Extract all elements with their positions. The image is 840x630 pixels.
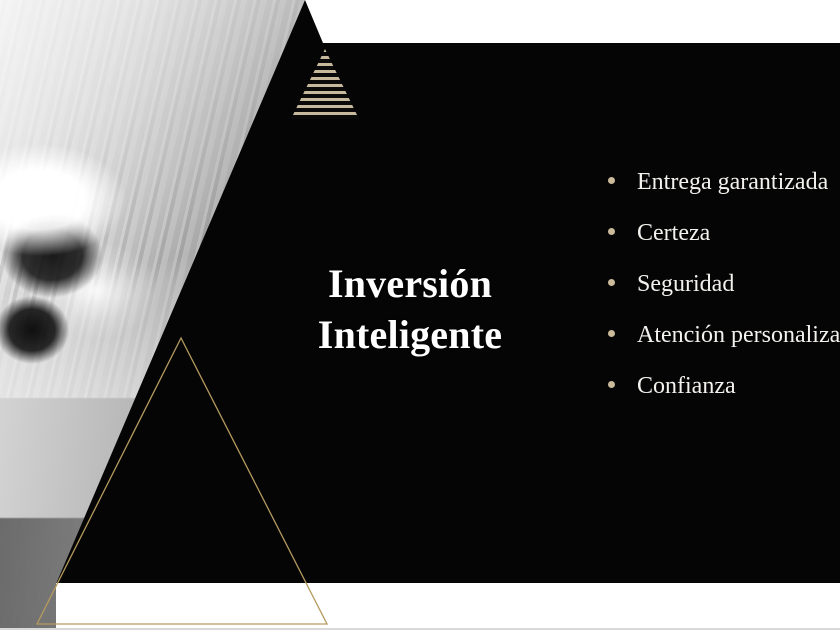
bullet-dot-icon bbox=[608, 177, 615, 184]
list-item-label: Confianza bbox=[637, 374, 736, 398]
feature-bullet-list: Entrega garantizada Certeza Seguridad At… bbox=[608, 170, 840, 425]
list-item-label: Atención personalizada bbox=[637, 323, 840, 347]
page-title-line-2: Inteligente bbox=[236, 309, 584, 360]
bullet-dot-icon bbox=[608, 330, 615, 337]
list-item: Certeza bbox=[608, 221, 840, 272]
page-title-line-1: Inversión bbox=[236, 258, 584, 309]
list-item: Atención personalizada bbox=[608, 323, 840, 374]
list-item: Seguridad bbox=[608, 272, 840, 323]
list-item-label: Entrega garantizada bbox=[637, 170, 828, 194]
list-item: Entrega garantizada bbox=[608, 170, 840, 221]
list-item-label: Seguridad bbox=[637, 272, 734, 296]
striped-triangle-icon bbox=[291, 49, 359, 119]
list-item: Confianza bbox=[608, 374, 840, 425]
triangle-outline-icon bbox=[36, 337, 328, 625]
list-item-label: Certeza bbox=[637, 221, 710, 245]
bullet-dot-icon bbox=[608, 381, 615, 388]
bullet-dot-icon bbox=[608, 228, 615, 235]
page-title: Inversión Inteligente bbox=[236, 258, 584, 360]
slide-canvas: Inversión Inteligente Entrega garantizad… bbox=[0, 0, 840, 630]
bullet-dot-icon bbox=[608, 279, 615, 286]
